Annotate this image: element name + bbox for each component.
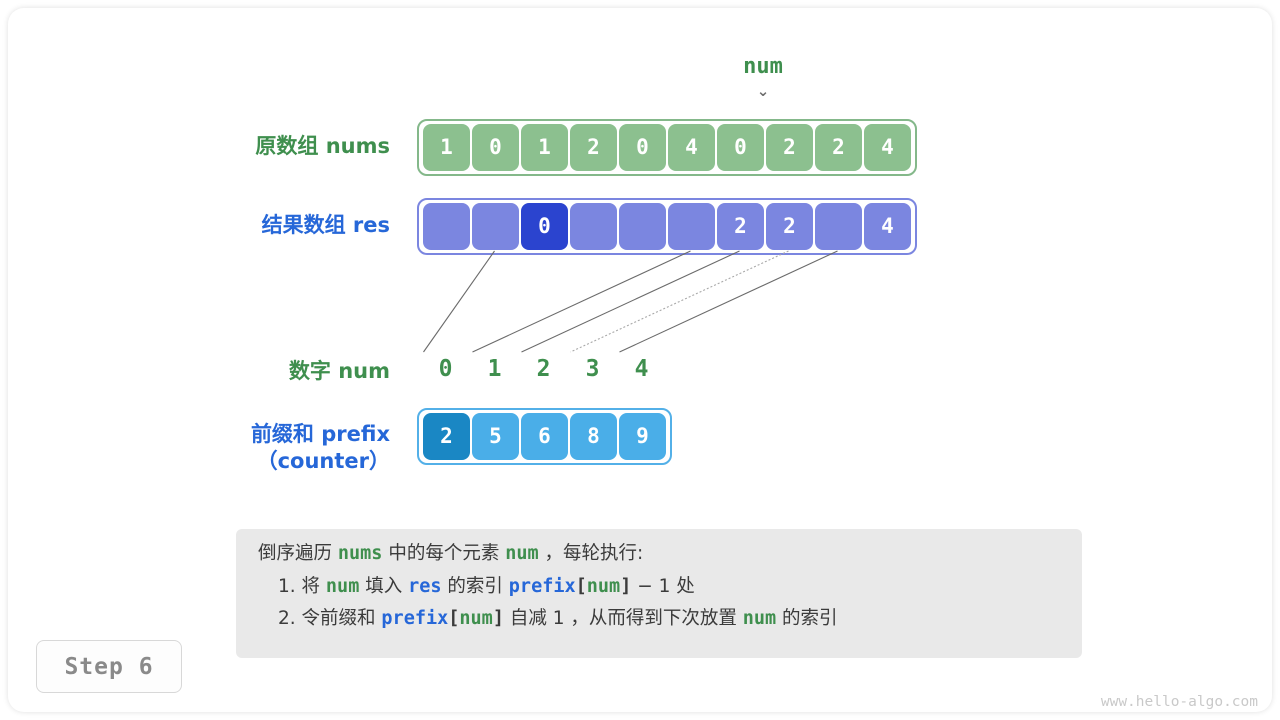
text-fragment: 中的每个元素 xyxy=(382,543,505,564)
watermark: www.hello-algo.com xyxy=(1101,694,1258,710)
text-fragment: ] xyxy=(493,608,504,629)
res-cell xyxy=(668,203,715,250)
digit-label: 4 xyxy=(622,356,662,382)
text-fragment: 的索引 xyxy=(442,576,509,597)
text-fragment: prefix xyxy=(509,576,576,597)
text-fragment: 2. 令前缀和 xyxy=(278,608,381,629)
res-cell xyxy=(619,203,666,250)
text-fragment: 倒序遍历 xyxy=(258,543,338,564)
prefix-cell: 8 xyxy=(570,413,617,460)
text-fragment: num xyxy=(743,608,776,629)
nums-cell: 4 xyxy=(864,124,911,171)
res-array: 0224 xyxy=(417,198,917,255)
nums-cell: 2 xyxy=(766,124,813,171)
nums-cell: 2 xyxy=(570,124,617,171)
digit-label: 0 xyxy=(426,356,466,382)
text-fragment: prefix xyxy=(381,608,448,629)
res-cell xyxy=(472,203,519,250)
text-fragment: 自减 1 ，从而得到下次放置 xyxy=(504,608,743,629)
text-fragment: 1. 将 xyxy=(278,576,326,597)
num-pointer-label: num xyxy=(743,54,783,79)
diagram-canvas: num ⌄ 原数组 nums 结果数组 res 数字 num 前缀和 prefi… xyxy=(0,0,1280,720)
digit-label: 2 xyxy=(524,356,564,382)
res-cell xyxy=(815,203,862,250)
description-line-3: 2. 令前缀和 prefix[num] 自减 1 ，从而得到下次放置 num 的… xyxy=(258,610,1060,629)
res-cell: 2 xyxy=(766,203,813,250)
prefix-cell: 2 xyxy=(423,413,470,460)
prefix-cell: 5 xyxy=(472,413,519,460)
prefix-cell: 6 xyxy=(521,413,568,460)
step-badge: Step 6 xyxy=(36,640,182,693)
text-fragment: − 1 处 xyxy=(631,576,694,597)
text-fragment: ] xyxy=(620,576,631,597)
res-cell: 4 xyxy=(864,203,911,250)
nums-cell: 1 xyxy=(521,124,568,171)
description-box: 倒序遍历 nums 中的每个元素 num ，每轮执行: 1. 将 num 填入 … xyxy=(236,529,1082,658)
res-cell xyxy=(423,203,470,250)
nums-cell: 0 xyxy=(619,124,666,171)
res-cell: 2 xyxy=(717,203,764,250)
description-line-1: 倒序遍历 nums 中的每个元素 num ，每轮执行: xyxy=(258,545,1060,564)
text-fragment: num xyxy=(587,576,620,597)
digit-label: 3 xyxy=(573,356,613,382)
text-fragment: [ xyxy=(448,608,459,629)
res-cell xyxy=(570,203,617,250)
res-cell: 0 xyxy=(521,203,568,250)
nums-cell: 2 xyxy=(815,124,862,171)
label-prefix: 前缀和 prefix （counter） xyxy=(120,421,390,475)
nums-cell: 4 xyxy=(668,124,715,171)
text-fragment: num xyxy=(459,608,492,629)
text-fragment: num xyxy=(326,576,359,597)
text-fragment: num xyxy=(505,543,538,564)
text-fragment: 的索引 xyxy=(776,608,837,629)
text-fragment: 填入 xyxy=(359,576,408,597)
label-res: 结果数组 res xyxy=(140,212,390,239)
nums-cell: 0 xyxy=(717,124,764,171)
nums-cell: 0 xyxy=(472,124,519,171)
text-fragment: res xyxy=(408,576,441,597)
text-fragment: ，每轮执行: xyxy=(539,543,644,564)
chevron-down-icon: ⌄ xyxy=(723,84,803,99)
digit-label: 1 xyxy=(475,356,515,382)
digit-row: 01234 xyxy=(0,356,1280,388)
nums-cell: 1 xyxy=(423,124,470,171)
text-fragment: nums xyxy=(338,543,383,564)
nums-array: 1012040224 xyxy=(417,119,917,176)
text-fragment: [ xyxy=(576,576,587,597)
prefix-array: 25689 xyxy=(417,408,672,465)
description-line-2: 1. 将 num 填入 res 的索引 prefix[num] − 1 处 xyxy=(258,578,1060,597)
prefix-cell: 9 xyxy=(619,413,666,460)
num-pointer: num ⌄ xyxy=(723,54,803,99)
label-nums: 原数组 nums xyxy=(140,133,390,160)
